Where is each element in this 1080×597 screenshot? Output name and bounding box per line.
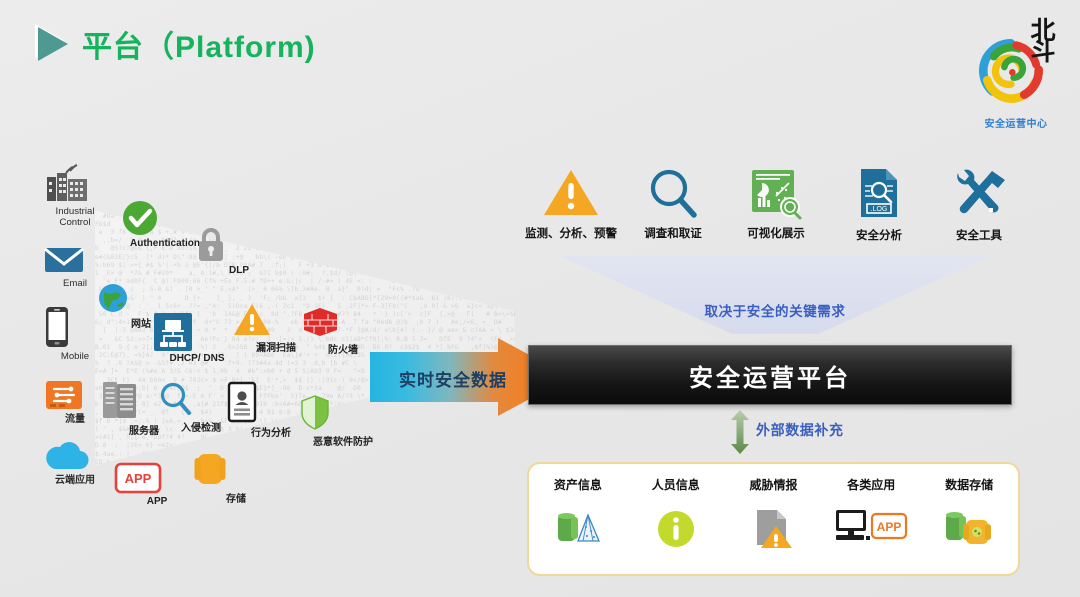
source-label: Mobile <box>44 351 106 362</box>
database-pyramid-icon <box>556 506 600 552</box>
source-item-cloud[interactable]: 云端应用 <box>44 442 106 486</box>
supplement-label: 威胁情报 <box>749 476 797 493</box>
cloud-icon <box>44 442 90 472</box>
platform-title: 安全运营平台 <box>689 358 851 393</box>
magnifier-icon <box>646 168 700 218</box>
database-barrel-icon <box>944 506 994 552</box>
capability-monitoring[interactable]: 监测、分析、预警 <box>517 168 625 241</box>
padlock-icon <box>196 225 226 263</box>
log-document-icon: .LOG <box>855 168 903 220</box>
envelope-icon <box>44 245 84 275</box>
dashboard-chart-icon <box>749 168 803 218</box>
supplement-item-personnel[interactable]: 人员信息 <box>627 464 725 574</box>
device-label: DLP <box>196 265 282 276</box>
requirement-funnel-shape <box>560 256 990 334</box>
soc-logo: 北斗 安全运营中心 <box>970 20 1062 132</box>
source-item-industrial-control[interactable]: Industrial Control <box>44 165 106 228</box>
supplement-label: 各类应用 <box>847 476 895 493</box>
double-vertical-arrow-icon <box>730 410 750 454</box>
device-dlp[interactable]: DLP <box>196 225 282 276</box>
info-circle-icon <box>656 506 696 552</box>
alert-triangle-icon <box>543 168 599 218</box>
supplement-label: 数据存储 <box>945 476 993 493</box>
device-app[interactable]: APP APP <box>114 462 200 507</box>
supplement-label: 资产信息 <box>554 476 602 493</box>
wrench-hammer-icon <box>952 168 1006 220</box>
capability-label: 安全分析 <box>825 227 933 243</box>
capability-investigation[interactable]: 调查和取证 <box>619 168 727 241</box>
capability-label: 可视化展示 <box>722 225 830 241</box>
source-label: 流量 <box>44 414 106 425</box>
traffic-router-icon <box>44 379 84 411</box>
supplement-box: 资产信息 人员信息 <box>527 462 1020 576</box>
supplement-item-data-storage[interactable]: 数据存储 <box>920 464 1018 574</box>
device-storage[interactable]: 存储 <box>193 452 279 505</box>
source-item-traffic[interactable]: 流量 <box>44 379 106 425</box>
device-label: APP <box>114 496 200 507</box>
page-title: 平台（Platform) <box>82 22 316 66</box>
source-column: Industrial Control Email Mobile <box>44 165 106 503</box>
svg-text:APP: APP <box>125 471 152 486</box>
platform-bar[interactable]: 安全运营平台 <box>528 345 1012 405</box>
device-label: DHCP/ DNS <box>154 353 240 364</box>
storage-drum-icon <box>193 452 227 488</box>
device-label: 恶意软件防护 <box>300 433 386 448</box>
source-item-email[interactable]: Email <box>44 245 106 289</box>
external-data-label: 外部数据补充 <box>756 420 844 440</box>
svg-text:APP: APP <box>877 520 902 534</box>
supplement-item-threat-intel[interactable]: 威胁情报 <box>725 464 823 574</box>
capability-label: 安全工具 <box>925 227 1033 243</box>
app-box-icon: APP <box>114 462 162 494</box>
arrow-label: 实时安全数据 <box>378 366 528 391</box>
magnifier-icon <box>158 381 192 417</box>
page-header: 平台（Platform) <box>38 22 316 66</box>
source-label: 云端应用 <box>44 475 106 486</box>
document-warning-icon <box>752 506 794 552</box>
capability-label: 调查和取证 <box>619 225 727 241</box>
source-item-mobile[interactable]: Mobile <box>44 306 106 362</box>
factory-icon <box>44 165 90 203</box>
play-triangle-icon <box>38 27 68 61</box>
server-rack-icon <box>101 380 139 420</box>
firewall-brick-icon <box>300 305 340 339</box>
network-icon <box>154 313 192 351</box>
globe-icon <box>98 283 128 313</box>
supplement-label: 人员信息 <box>652 476 700 493</box>
svg-text:.LOG: .LOG <box>871 206 888 213</box>
smartphone-icon <box>44 306 70 348</box>
source-label: Email <box>44 278 106 289</box>
requirement-label: 取决于安全的关键需求 <box>560 300 990 320</box>
capability-label: 监测、分析、预警 <box>517 225 625 241</box>
green-check-icon <box>122 200 158 236</box>
warning-triangle-icon <box>233 303 271 337</box>
shield-icon <box>300 395 330 431</box>
slide-canvas: 平台（Platform) 北斗 安全运营中心 ?9 D 1 5 ,1"${$* … <box>0 0 1080 597</box>
supplement-item-asset[interactable]: 资产信息 <box>529 464 627 574</box>
logo-calligraphy: 北斗 <box>1026 22 1060 68</box>
device-dhcp-dns[interactable]: DHCP/ DNS <box>154 313 240 364</box>
monitor-app-icon: APP <box>833 506 909 552</box>
logo-caption: 安全运营中心 <box>970 115 1062 130</box>
capability-security-analysis[interactable]: .LOG 安全分析 <box>825 168 933 243</box>
device-label: 存储 <box>193 490 279 505</box>
capability-security-tools[interactable]: 安全工具 <box>925 168 1033 243</box>
user-profile-card-icon <box>228 382 256 422</box>
source-label: Industrial Control <box>44 206 106 228</box>
supplement-item-applications[interactable]: 各类应用 APP <box>822 464 920 574</box>
capability-visualization[interactable]: 可视化展示 <box>722 168 830 241</box>
